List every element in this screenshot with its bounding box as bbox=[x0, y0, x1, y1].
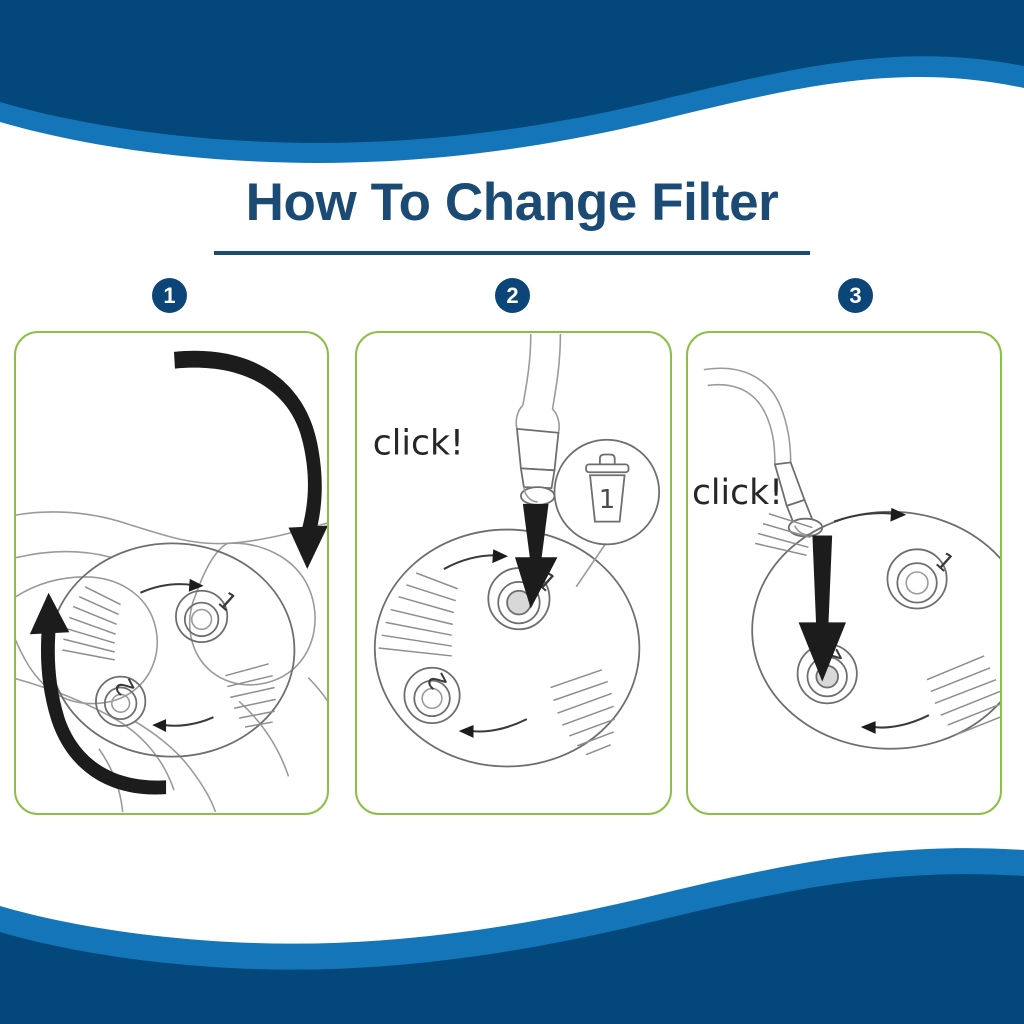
click-label: click! bbox=[373, 424, 464, 464]
top-wave-light-band bbox=[0, 0, 1024, 163]
step-badge-1: 1 bbox=[152, 278, 187, 313]
vent-hatching-lower-right bbox=[927, 656, 1000, 735]
illustration-tube-click-port-one: 1 2 bbox=[357, 333, 670, 813]
disc-direction-arrow-top bbox=[834, 508, 906, 522]
bottom-wave-navy-band bbox=[0, 874, 1024, 1024]
callout-circle-trash-bin: 1 bbox=[554, 440, 659, 587]
trash-bin-icon: 1 bbox=[586, 455, 628, 522]
mask-cushion-outline bbox=[16, 512, 327, 812]
trash-bin-number: 1 bbox=[599, 485, 615, 515]
step-badge-row: 1 2 3 bbox=[0, 278, 1024, 316]
curved-rotation-arrow-top-right bbox=[174, 351, 327, 569]
top-wave-decoration bbox=[0, 0, 1024, 180]
vent-hatching-lower-right bbox=[225, 664, 275, 727]
port-two: 2 bbox=[404, 667, 459, 723]
step-panel-2: 1 2 bbox=[355, 331, 672, 815]
step-panel-3: 1 2 bbox=[686, 331, 1002, 815]
title-block: How To Change Filter bbox=[0, 176, 1024, 255]
disc-direction-arrow-bottom bbox=[152, 717, 213, 732]
hose-tube bbox=[516, 334, 560, 433]
top-wave-navy-band bbox=[0, 0, 1024, 143]
disc-direction-arrow-bottom bbox=[861, 715, 929, 734]
step-panel-row: 1 2 bbox=[0, 331, 1024, 817]
step-badge-3: 3 bbox=[838, 278, 873, 313]
click-label: click! bbox=[692, 473, 783, 513]
hose-tube bbox=[704, 368, 791, 464]
step-panel-1: 1 2 bbox=[14, 331, 329, 815]
disc-direction-arrow-top bbox=[140, 579, 203, 593]
filter-device-disc bbox=[375, 530, 640, 767]
title-underline-rule bbox=[214, 251, 810, 255]
port-two: 2 bbox=[96, 673, 145, 726]
page-title: How To Change Filter bbox=[0, 176, 1024, 229]
illustration-mask-rotate-open: 1 2 bbox=[16, 333, 327, 813]
filter-device-disc bbox=[752, 512, 1000, 749]
port-one: 1 bbox=[176, 586, 242, 642]
vent-hatching-upper-left bbox=[62, 587, 120, 660]
port-one: 1 bbox=[887, 547, 959, 609]
bottom-wave-decoration bbox=[0, 838, 1024, 1024]
bottom-wave-light-band bbox=[0, 848, 1024, 1024]
infographic-canvas: How To Change Filter 1 2 3 bbox=[0, 0, 1024, 1024]
vent-hatching-upper-left bbox=[379, 573, 458, 656]
vent-hatching-lower-right bbox=[551, 670, 615, 755]
step-badge-2: 2 bbox=[495, 278, 530, 313]
disc-direction-arrow-bottom bbox=[459, 719, 527, 738]
illustration-tube-click-port-two: 1 2 bbox=[688, 333, 1000, 813]
disc-direction-arrow-top bbox=[444, 549, 508, 569]
tube-connector bbox=[517, 429, 558, 505]
